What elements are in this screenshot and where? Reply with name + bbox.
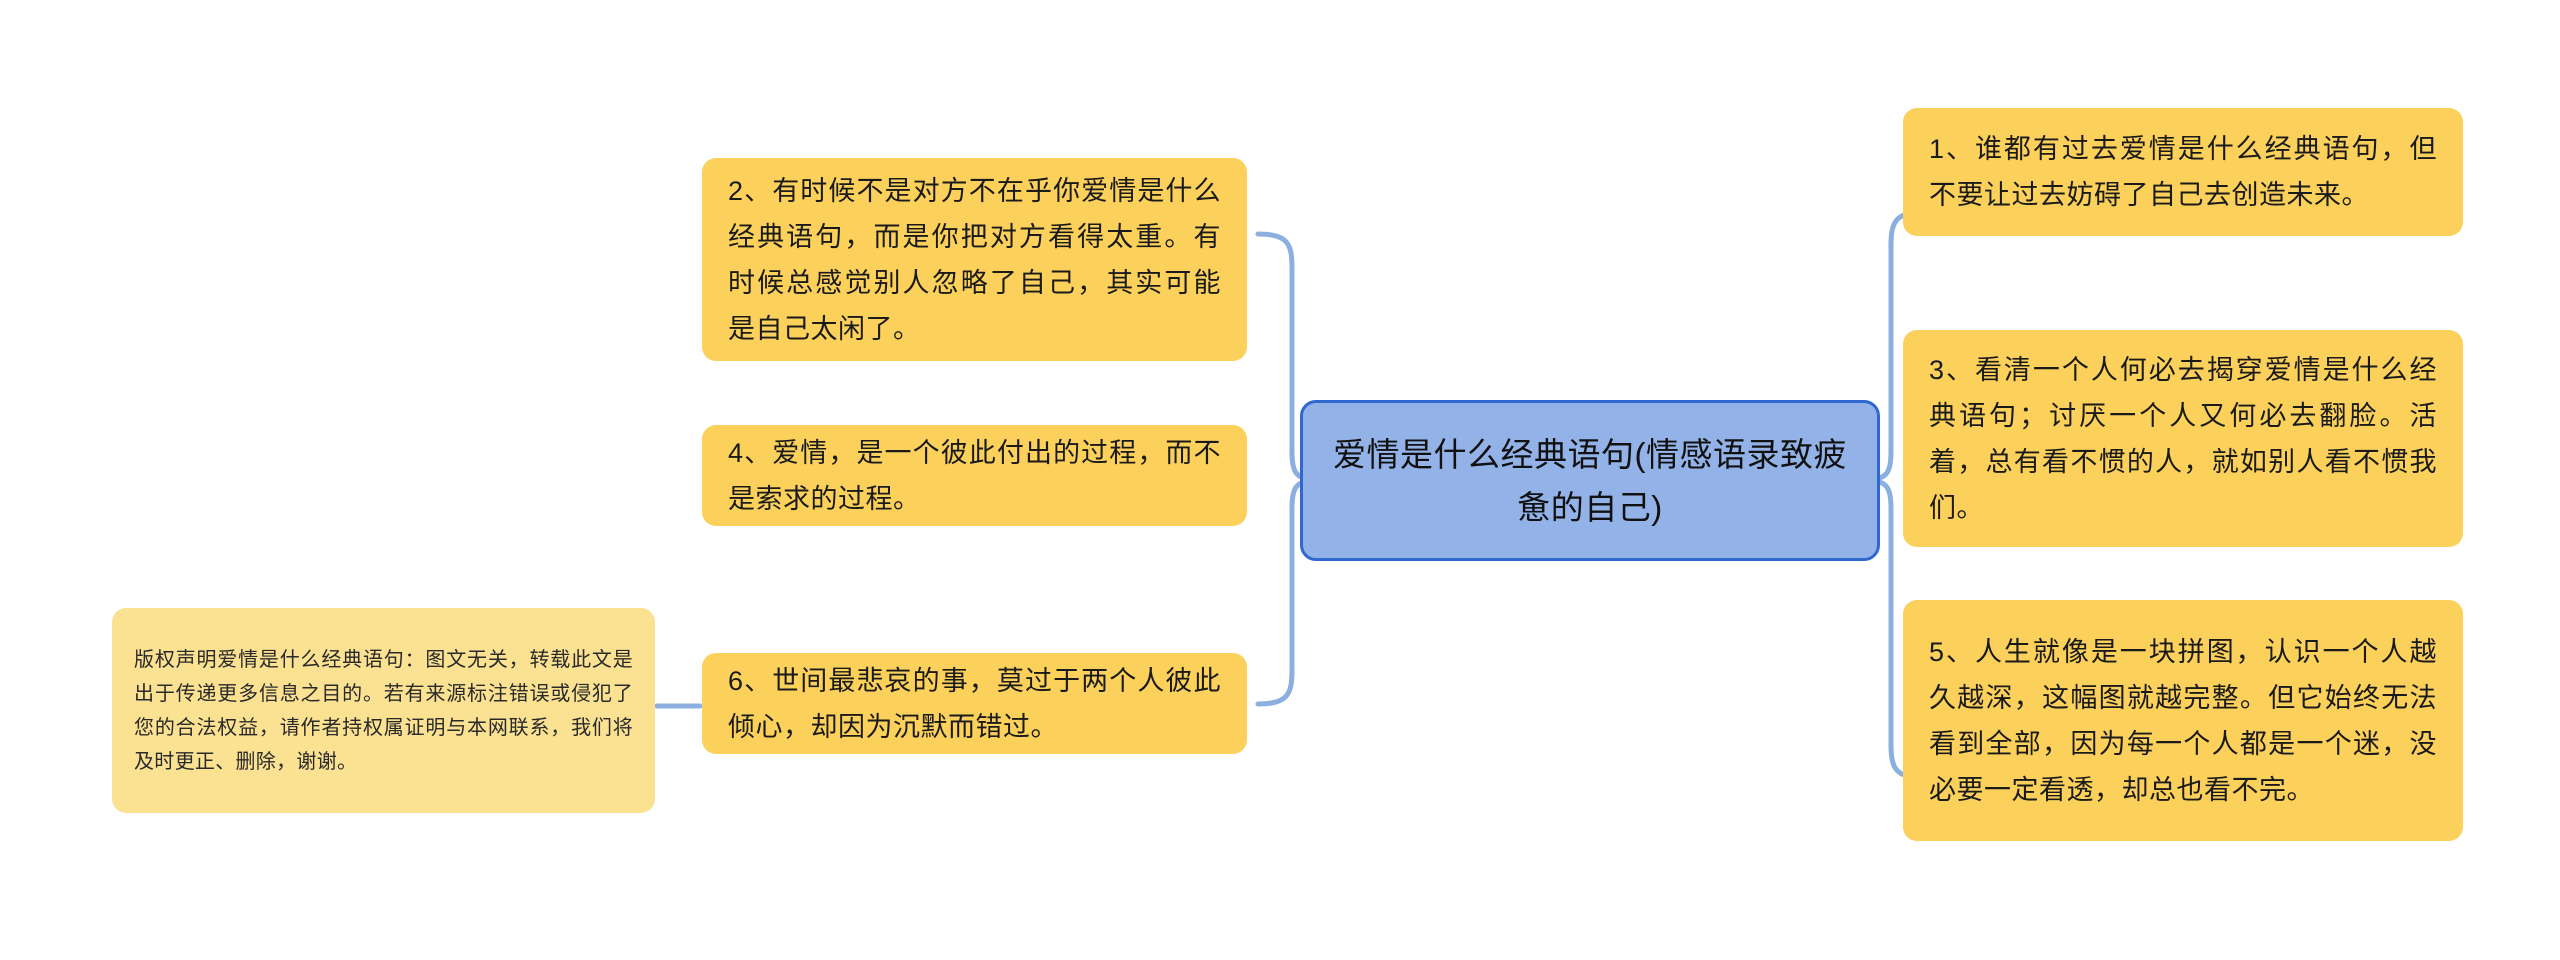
- branch-node-left-4-text: 4、爱情，是一个彼此付出的过程，而不是索求的过程。: [728, 430, 1221, 522]
- branch-node-right-3[interactable]: 3、看清一个人何必去揭穿爱情是什么经典语句；讨厌一个人又何必去翻脸。活着，总有看…: [1903, 330, 2463, 547]
- branch-node-left-2[interactable]: 2、有时候不是对方不在乎你爱情是什么经典语句，而是你把对方看得太重。有时候总感觉…: [702, 158, 1247, 361]
- branch-node-left-2-text: 2、有时候不是对方不在乎你爱情是什么经典语句，而是你把对方看得太重。有时候总感觉…: [728, 168, 1221, 352]
- branch-node-left-4[interactable]: 4、爱情，是一个彼此付出的过程，而不是索求的过程。: [702, 425, 1247, 526]
- branch-node-left-6-text: 6、世间最悲哀的事，莫过于两个人彼此倾心，却因为沉默而错过。: [728, 658, 1221, 750]
- branch-node-right-5[interactable]: 5、人生就像是一块拼图，认识一个人越久越深，这幅图就越完整。但它始终无法看到全部…: [1903, 600, 2463, 841]
- center-topic-text: 爱情是什么经典语句(情感语录致疲惫的自己): [1329, 428, 1851, 534]
- branch-node-right-5-text: 5、人生就像是一块拼图，认识一个人越久越深，这幅图就越完整。但它始终无法看到全部…: [1929, 629, 2437, 813]
- center-topic-node[interactable]: 爱情是什么经典语句(情感语录致疲惫的自己): [1300, 400, 1880, 561]
- branch-node-right-1-text: 1、谁都有过去爱情是什么经典语句，但不要让过去妨碍了自己去创造未来。: [1929, 126, 2437, 218]
- branch-node-right-3-text: 3、看清一个人何必去揭穿爱情是什么经典语句；讨厌一个人又何必去翻脸。活着，总有看…: [1929, 347, 2437, 531]
- branch-node-left-6[interactable]: 6、世间最悲哀的事，莫过于两个人彼此倾心，却因为沉默而错过。: [702, 653, 1247, 754]
- copyright-note-text: 版权声明爱情是什么经典语句：图文无关，转载此文是出于传递更多信息之目的。若有来源…: [134, 643, 633, 779]
- branch-node-right-1[interactable]: 1、谁都有过去爱情是什么经典语句，但不要让过去妨碍了自己去创造未来。: [1903, 108, 2463, 236]
- copyright-note-node[interactable]: 版权声明爱情是什么经典语句：图文无关，转载此文是出于传递更多信息之目的。若有来源…: [112, 608, 655, 813]
- mindmap-canvas: 2、有时候不是对方不在乎你爱情是什么经典语句，而是你把对方看得太重。有时候总感觉…: [0, 0, 2560, 960]
